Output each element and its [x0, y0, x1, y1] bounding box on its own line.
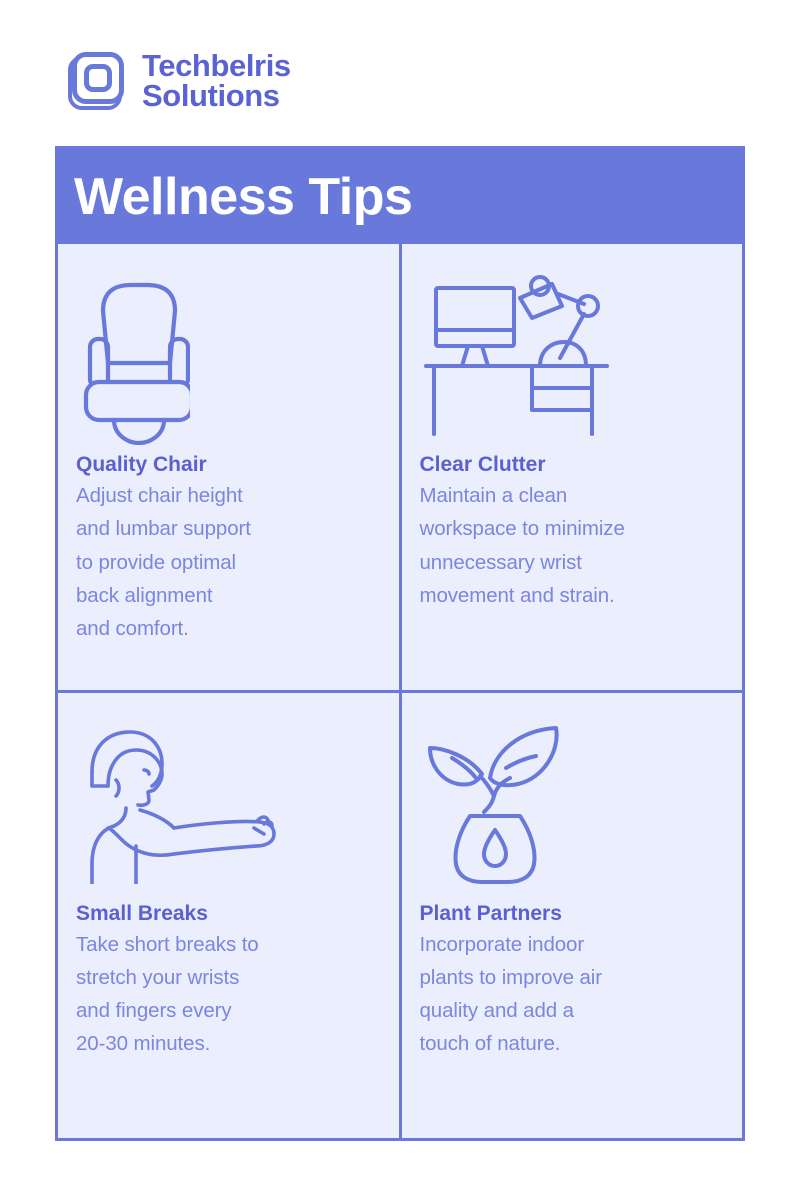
infographic-frame: Wellness Tips Quality Chair Adjust chair…: [55, 146, 745, 1141]
person-stretching-arms-icon: [76, 707, 381, 902]
brand-logo: Techbelris Solutions: [64, 50, 291, 112]
tip-card-plant-partners: Plant Partners Incorporate indoor plants…: [402, 693, 743, 1139]
tips-grid: Quality Chair Adjust chair height and lu…: [58, 244, 742, 1138]
tip-card-title: Quality Chair: [76, 453, 381, 477]
page-title: Wellness Tips: [74, 171, 412, 223]
infographic-page: Techbelris Solutions Wellness Tips: [0, 0, 800, 1200]
tip-card-title: Small Breaks: [76, 902, 381, 926]
brand-name-line-2: Solutions: [142, 81, 291, 111]
office-chair-icon: [76, 258, 381, 453]
tip-card-quality-chair: Quality Chair Adjust chair height and lu…: [58, 244, 399, 690]
rounded-square-logo-icon: [64, 50, 126, 112]
tip-card-body: Incorporate indoor plants to improve air…: [420, 928, 725, 1061]
tip-card-small-breaks: Small Breaks Take short breaks to stretc…: [58, 693, 399, 1139]
brand-name-line-1: Techbelris: [142, 51, 291, 81]
tip-card-title: Clear Clutter: [420, 453, 725, 477]
desk-with-monitor-and-lamp-icon: [420, 258, 725, 453]
tip-card-body: Take short breaks to stretch your wrists…: [76, 928, 381, 1061]
brand-name: Techbelris Solutions: [142, 51, 291, 112]
tip-card-body: Maintain a clean workspace to minimize u…: [420, 479, 725, 612]
tip-card-clear-clutter: Clear Clutter Maintain a clean workspace…: [402, 244, 743, 690]
header-banner: Wellness Tips: [58, 149, 742, 244]
potted-plant-with-water-drop-icon: [420, 707, 725, 902]
tip-card-title: Plant Partners: [420, 902, 725, 926]
tip-card-body: Adjust chair height and lumbar support t…: [76, 479, 381, 645]
